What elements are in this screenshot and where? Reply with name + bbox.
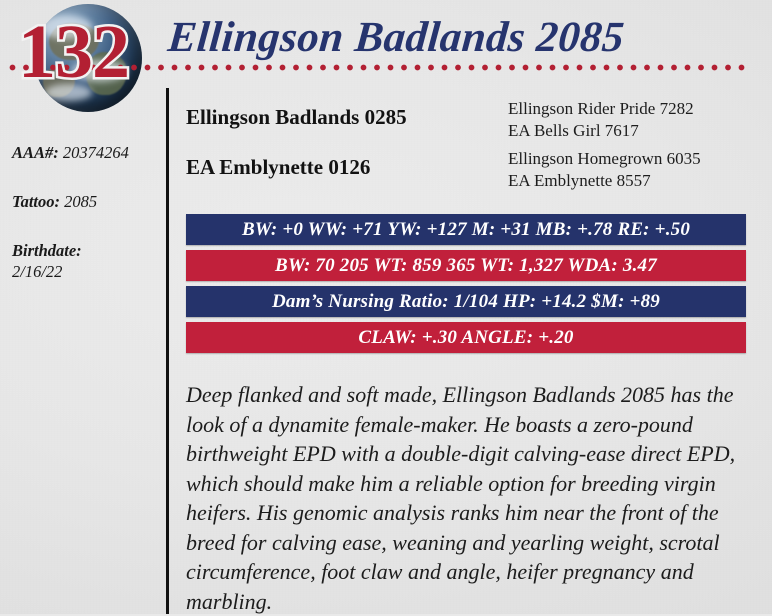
dam-parents: Ellingson Homegrown 6035 EA Emblynette 8… bbox=[508, 148, 701, 192]
lot-description: Deep flanked and soft made, Ellingson Ba… bbox=[186, 380, 754, 616]
vertical-divider bbox=[166, 88, 169, 614]
dam-of-dam-name: EA Emblynette 8557 bbox=[508, 170, 701, 192]
epd-bars: BW: +0 WW: +71 YW: +127 M: +31 MB: +.78 … bbox=[186, 214, 746, 358]
birthdate-row: Birthdate: 2/16/22 bbox=[12, 240, 160, 282]
sire-name: Ellingson Badlands 0285 bbox=[186, 105, 407, 130]
registration-number-label: AAA#: bbox=[12, 143, 59, 162]
pedigree-sire-group: Ellingson Badlands 0285 Ellingson Rider … bbox=[186, 100, 748, 146]
tattoo-label: Tattoo: bbox=[12, 192, 60, 211]
page-header: 132 Ellingson Badlands 2085 bbox=[0, 0, 772, 92]
sire-of-dam-name: Ellingson Homegrown 6035 bbox=[508, 148, 701, 170]
dam-of-sire-name: EA Bells Girl 7617 bbox=[508, 120, 694, 142]
epd-bar-epds: BW: +0 WW: +71 YW: +127 M: +31 MB: +.78 … bbox=[186, 214, 746, 245]
dam-name: EA Emblynette 0126 bbox=[186, 155, 370, 180]
sidebar-registration-info: AAA#: 20374264 Tattoo: 2085 Birthdate: 2… bbox=[12, 142, 160, 310]
pedigree-block: Ellingson Badlands 0285 Ellingson Rider … bbox=[186, 100, 748, 200]
tattoo-row: Tattoo: 2085 bbox=[12, 191, 160, 212]
sire-of-sire-name: Ellingson Rider Pride 7282 bbox=[508, 98, 694, 120]
registration-number-row: AAA#: 20374264 bbox=[12, 142, 160, 163]
catalog-page: 132 Ellingson Badlands 2085 AAA#: 203742… bbox=[0, 0, 772, 614]
epd-bar-ratios-indexes: Dam’s Nursing Ratio: 1/104 HP: +14.2 $M:… bbox=[186, 286, 746, 317]
epd-bar-actual-weights: BW: 70 205 WT: 859 365 WT: 1,327 WDA: 3.… bbox=[186, 250, 746, 281]
page-title: Ellingson Badlands 2085 bbox=[166, 13, 626, 63]
birthdate-label: Birthdate: bbox=[12, 241, 82, 260]
birthdate-value: 2/16/22 bbox=[12, 261, 160, 282]
epd-bar-foot-scores: CLAW: +.30 ANGLE: +.20 bbox=[186, 322, 746, 353]
tattoo-value: 2085 bbox=[64, 192, 97, 211]
pedigree-dam-group: EA Emblynette 0126 Ellingson Homegrown 6… bbox=[186, 150, 748, 196]
registration-number-value: 20374264 bbox=[63, 143, 129, 162]
sire-parents: Ellingson Rider Pride 7282 EA Bells Girl… bbox=[508, 98, 694, 142]
lot-number: 132 bbox=[18, 14, 129, 90]
